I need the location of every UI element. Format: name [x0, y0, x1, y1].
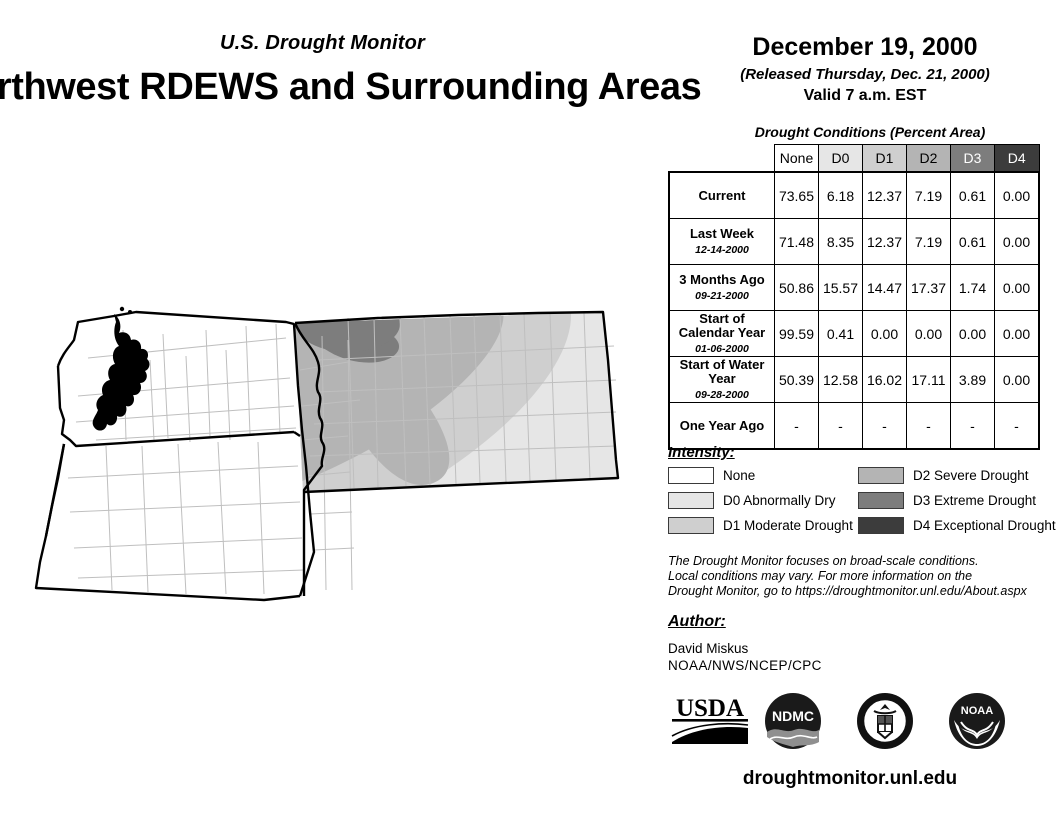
usda-logo-svg: USDA: [668, 692, 752, 748]
cell-d0: 15.57: [819, 265, 863, 311]
author-org: NOAA/NWS/NCEP/CPC: [668, 658, 822, 673]
commerce-seal-logo: [856, 692, 914, 755]
legend-item-d2: D2 Severe Drought: [858, 467, 1029, 484]
author-heading: Author:: [668, 613, 726, 631]
table-row: 3 Months Ago 09-21-2000 50.86 15.57 14.4…: [669, 265, 1039, 311]
row-label-text: Last Week: [690, 226, 754, 241]
cell-d3: -: [951, 403, 995, 450]
table-header-row: None D0 D1 D2 D3 D4: [669, 145, 1039, 173]
author-name: David Miskus: [668, 641, 748, 656]
ndmc-logo-svg: NDMC: [764, 692, 822, 750]
table-title: Drought Conditions (Percent Area): [700, 124, 1040, 140]
row-label-start-of-water-year: Start of Water Year 09-28-2000: [669, 357, 775, 403]
cell-d2: 17.11: [907, 357, 951, 403]
legend-title: Intensity:: [668, 444, 1028, 461]
row-label-date: 09-28-2000: [670, 388, 774, 402]
intensity-legend: Intensity: None D0 Abnormally Dry D1 Mod…: [668, 444, 1028, 539]
row-label-date: 12-14-2000: [670, 243, 774, 257]
row-label-text: Start of Calendar Year: [679, 311, 765, 340]
legend-item-d1: D1 Moderate Drought: [668, 517, 853, 534]
table-row: Current 73.65 6.18 12.37 7.19 0.61 0.00: [669, 172, 1039, 219]
row-label-text: One Year Ago: [680, 418, 765, 433]
state-oregon: [36, 444, 300, 600]
page-title: orthwest RDEWS and Surrounding Areas: [0, 66, 734, 109]
noaa-logo-text: NOAA: [961, 705, 993, 717]
cell-d0: 6.18: [819, 172, 863, 219]
disclaimer-note: The Drought Monitor focuses on broad-sca…: [668, 554, 1048, 599]
cell-d3: 3.89: [951, 357, 995, 403]
usda-logo: USDA: [668, 692, 752, 753]
cell-d2: 7.19: [907, 219, 951, 265]
col-header-d2: D2: [907, 145, 951, 173]
legend-swatch-none: [668, 467, 714, 484]
noaa-logo: NOAA: [948, 692, 1006, 755]
cell-none: 71.48: [775, 219, 819, 265]
disclaimer-line-1: The Drought Monitor focuses on broad-sca…: [668, 554, 1048, 569]
row-label-date: 09-21-2000: [670, 289, 774, 303]
legend-item-d3: D3 Extreme Drought: [858, 492, 1036, 509]
release-date: (Released Thursday, Dec. 21, 2000): [700, 66, 1030, 83]
table-corner-cell: [669, 145, 775, 173]
cell-none: 50.39: [775, 357, 819, 403]
row-label-text: Current: [699, 188, 746, 203]
cell-d4: 0.00: [995, 311, 1040, 357]
cell-none: -: [775, 403, 819, 450]
legend-swatch-d2: [858, 467, 904, 484]
row-label-current: Current: [669, 172, 775, 219]
cell-d0: 0.41: [819, 311, 863, 357]
cell-d4: 0.00: [995, 265, 1040, 311]
row-label-last-week: Last Week 12-14-2000: [669, 219, 775, 265]
col-header-none: None: [775, 145, 819, 173]
row-label-one-year-ago: One Year Ago: [669, 403, 775, 450]
legend-label-d3: D3 Extreme Drought: [913, 493, 1036, 508]
cell-d0: 8.35: [819, 219, 863, 265]
drought-monitor-page: U.S. Drought Monitor orthwest RDEWS and …: [0, 0, 1056, 816]
row-label-text: Start of Water Year: [680, 357, 765, 386]
drought-shading-layer: [21, 300, 638, 620]
cell-none: 99.59: [775, 311, 819, 357]
legend-label-d2: D2 Severe Drought: [913, 468, 1029, 483]
legend-items: None D0 Abnormally Dry D1 Moderate Droug…: [668, 467, 1028, 539]
cell-d3: 1.74: [951, 265, 995, 311]
site-url: droughtmonitor.unl.edu: [660, 768, 1040, 790]
table-row: Last Week 12-14-2000 71.48 8.35 12.37 7.…: [669, 219, 1039, 265]
cell-d1: 16.02: [863, 357, 907, 403]
cell-d0: -: [819, 403, 863, 450]
legend-swatch-d0: [668, 492, 714, 509]
drought-conditions-table: None D0 D1 D2 D3 D4 Current 73.65 6.18 1…: [668, 144, 1040, 450]
cell-d4: -: [995, 403, 1040, 450]
cell-d3: 0.00: [951, 311, 995, 357]
legend-label-d1: D1 Moderate Drought: [723, 518, 853, 533]
cell-d4: 0.00: [995, 357, 1040, 403]
row-label-text: 3 Months Ago: [679, 272, 764, 287]
ndmc-logo-text: NDMC: [772, 708, 814, 724]
disclaimer-line-2: Local conditions may vary. For more info…: [668, 569, 1048, 584]
cell-none: 50.86: [775, 265, 819, 311]
cell-d1: 12.37: [863, 172, 907, 219]
commerce-seal-svg: [856, 692, 914, 750]
row-label-date: 01-06-2000: [670, 342, 774, 356]
usda-field-shape: [672, 727, 748, 744]
table-row: One Year Ago - - - - - -: [669, 403, 1039, 450]
row-label-start-of-calendar-year: Start of Calendar Year 01-06-2000: [669, 311, 775, 357]
ndmc-logo: NDMC: [764, 692, 822, 755]
cell-d1: -: [863, 403, 907, 450]
cell-d2: -: [907, 403, 951, 450]
cell-d4: 0.00: [995, 219, 1040, 265]
table-row: Start of Water Year 09-28-2000 50.39 12.…: [669, 357, 1039, 403]
legend-swatch-d1: [668, 517, 714, 534]
col-header-d0: D0: [819, 145, 863, 173]
map-svg: [18, 300, 638, 620]
disclaimer-line-3: Drought Monitor, go to https://droughtmo…: [668, 584, 1048, 599]
puget-sound-water: [93, 307, 150, 431]
cell-d2: 0.00: [907, 311, 951, 357]
legend-item-d4: D4 Exceptional Drought: [858, 517, 1056, 534]
col-header-d4: D4: [995, 145, 1040, 173]
valid-time: Valid 7 a.m. EST: [700, 87, 1030, 105]
legend-label-d4: D4 Exceptional Drought: [913, 518, 1056, 533]
cell-d4: 0.00: [995, 172, 1040, 219]
map-date: December 19, 2000: [700, 33, 1030, 62]
cell-d2: 7.19: [907, 172, 951, 219]
usda-logo-text: USDA: [676, 695, 744, 722]
usda-underline: [672, 719, 748, 722]
cell-d2: 17.37: [907, 265, 951, 311]
cell-d3: 0.61: [951, 219, 995, 265]
cell-d3: 0.61: [951, 172, 995, 219]
page-subtitle: U.S. Drought Monitor: [0, 32, 645, 55]
col-header-d1: D1: [863, 145, 907, 173]
legend-swatch-d3: [858, 492, 904, 509]
legend-item-d0: D0 Abnormally Dry: [668, 492, 836, 509]
table-row: Start of Calendar Year 01-06-2000 99.59 …: [669, 311, 1039, 357]
drought-map: [18, 300, 638, 620]
col-header-d3: D3: [951, 145, 995, 173]
agency-logos: USDA NDMC: [660, 692, 1040, 754]
legend-label-none: None: [723, 468, 755, 483]
table-body: Current 73.65 6.18 12.37 7.19 0.61 0.00 …: [669, 172, 1039, 449]
noaa-logo-svg: NOAA: [948, 692, 1006, 750]
table-header: None D0 D1 D2 D3 D4: [669, 145, 1039, 173]
cell-d1: 0.00: [863, 311, 907, 357]
legend-label-d0: D0 Abnormally Dry: [723, 493, 836, 508]
cell-d0: 12.58: [819, 357, 863, 403]
legend-swatch-d4: [858, 517, 904, 534]
cell-d1: 14.47: [863, 265, 907, 311]
cell-d1: 12.37: [863, 219, 907, 265]
row-label-3-months-ago: 3 Months Ago 09-21-2000: [669, 265, 775, 311]
cell-none: 73.65: [775, 172, 819, 219]
legend-item-none: None: [668, 467, 755, 484]
